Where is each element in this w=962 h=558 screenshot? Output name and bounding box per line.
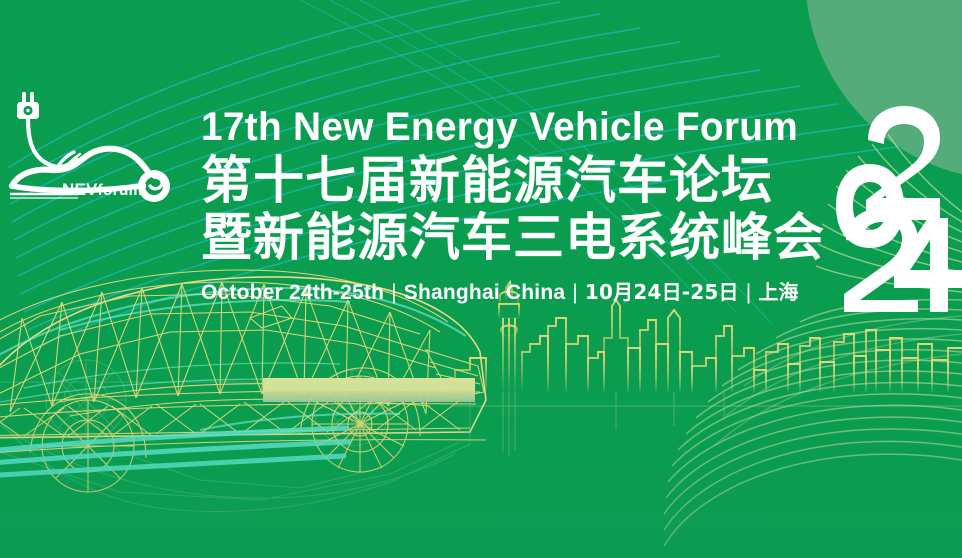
logo-wordmark-nev: NEV [62,180,98,199]
title-stack: 17th New Energy Vehicle Forum 第十七届新能源汽车论… [201,104,841,305]
meta-location-english: Shanghai China [404,281,565,304]
meta-separator-1: | [384,281,404,304]
meta-date-chinese: 10月24日-25日 [585,280,739,304]
meta-separator-2: | [565,281,585,304]
event-banner: NEVforum 17th New Energy Vehicle Forum 第… [0,0,962,558]
event-meta-line: October 24th-25th|Shanghai China|10月24日-… [201,276,841,305]
year-2024-graphic [836,100,962,316]
meta-separator-3: | [739,281,759,304]
logo-wordmark-forum: forum [98,182,143,199]
meta-location-chinese: 上海 [758,280,798,304]
year-2024-numerals [836,100,962,316]
logo-wordmark: NEVforum [62,180,142,200]
title-chinese-line-2: 暨新能源汽车三电系统峰会 [201,210,841,268]
title-english: 17th New Energy Vehicle Forum [201,104,822,150]
meta-date-english: October 24th-25th [201,281,384,304]
title-chinese-line-1: 第十七届新能源汽车论坛 [201,153,841,211]
